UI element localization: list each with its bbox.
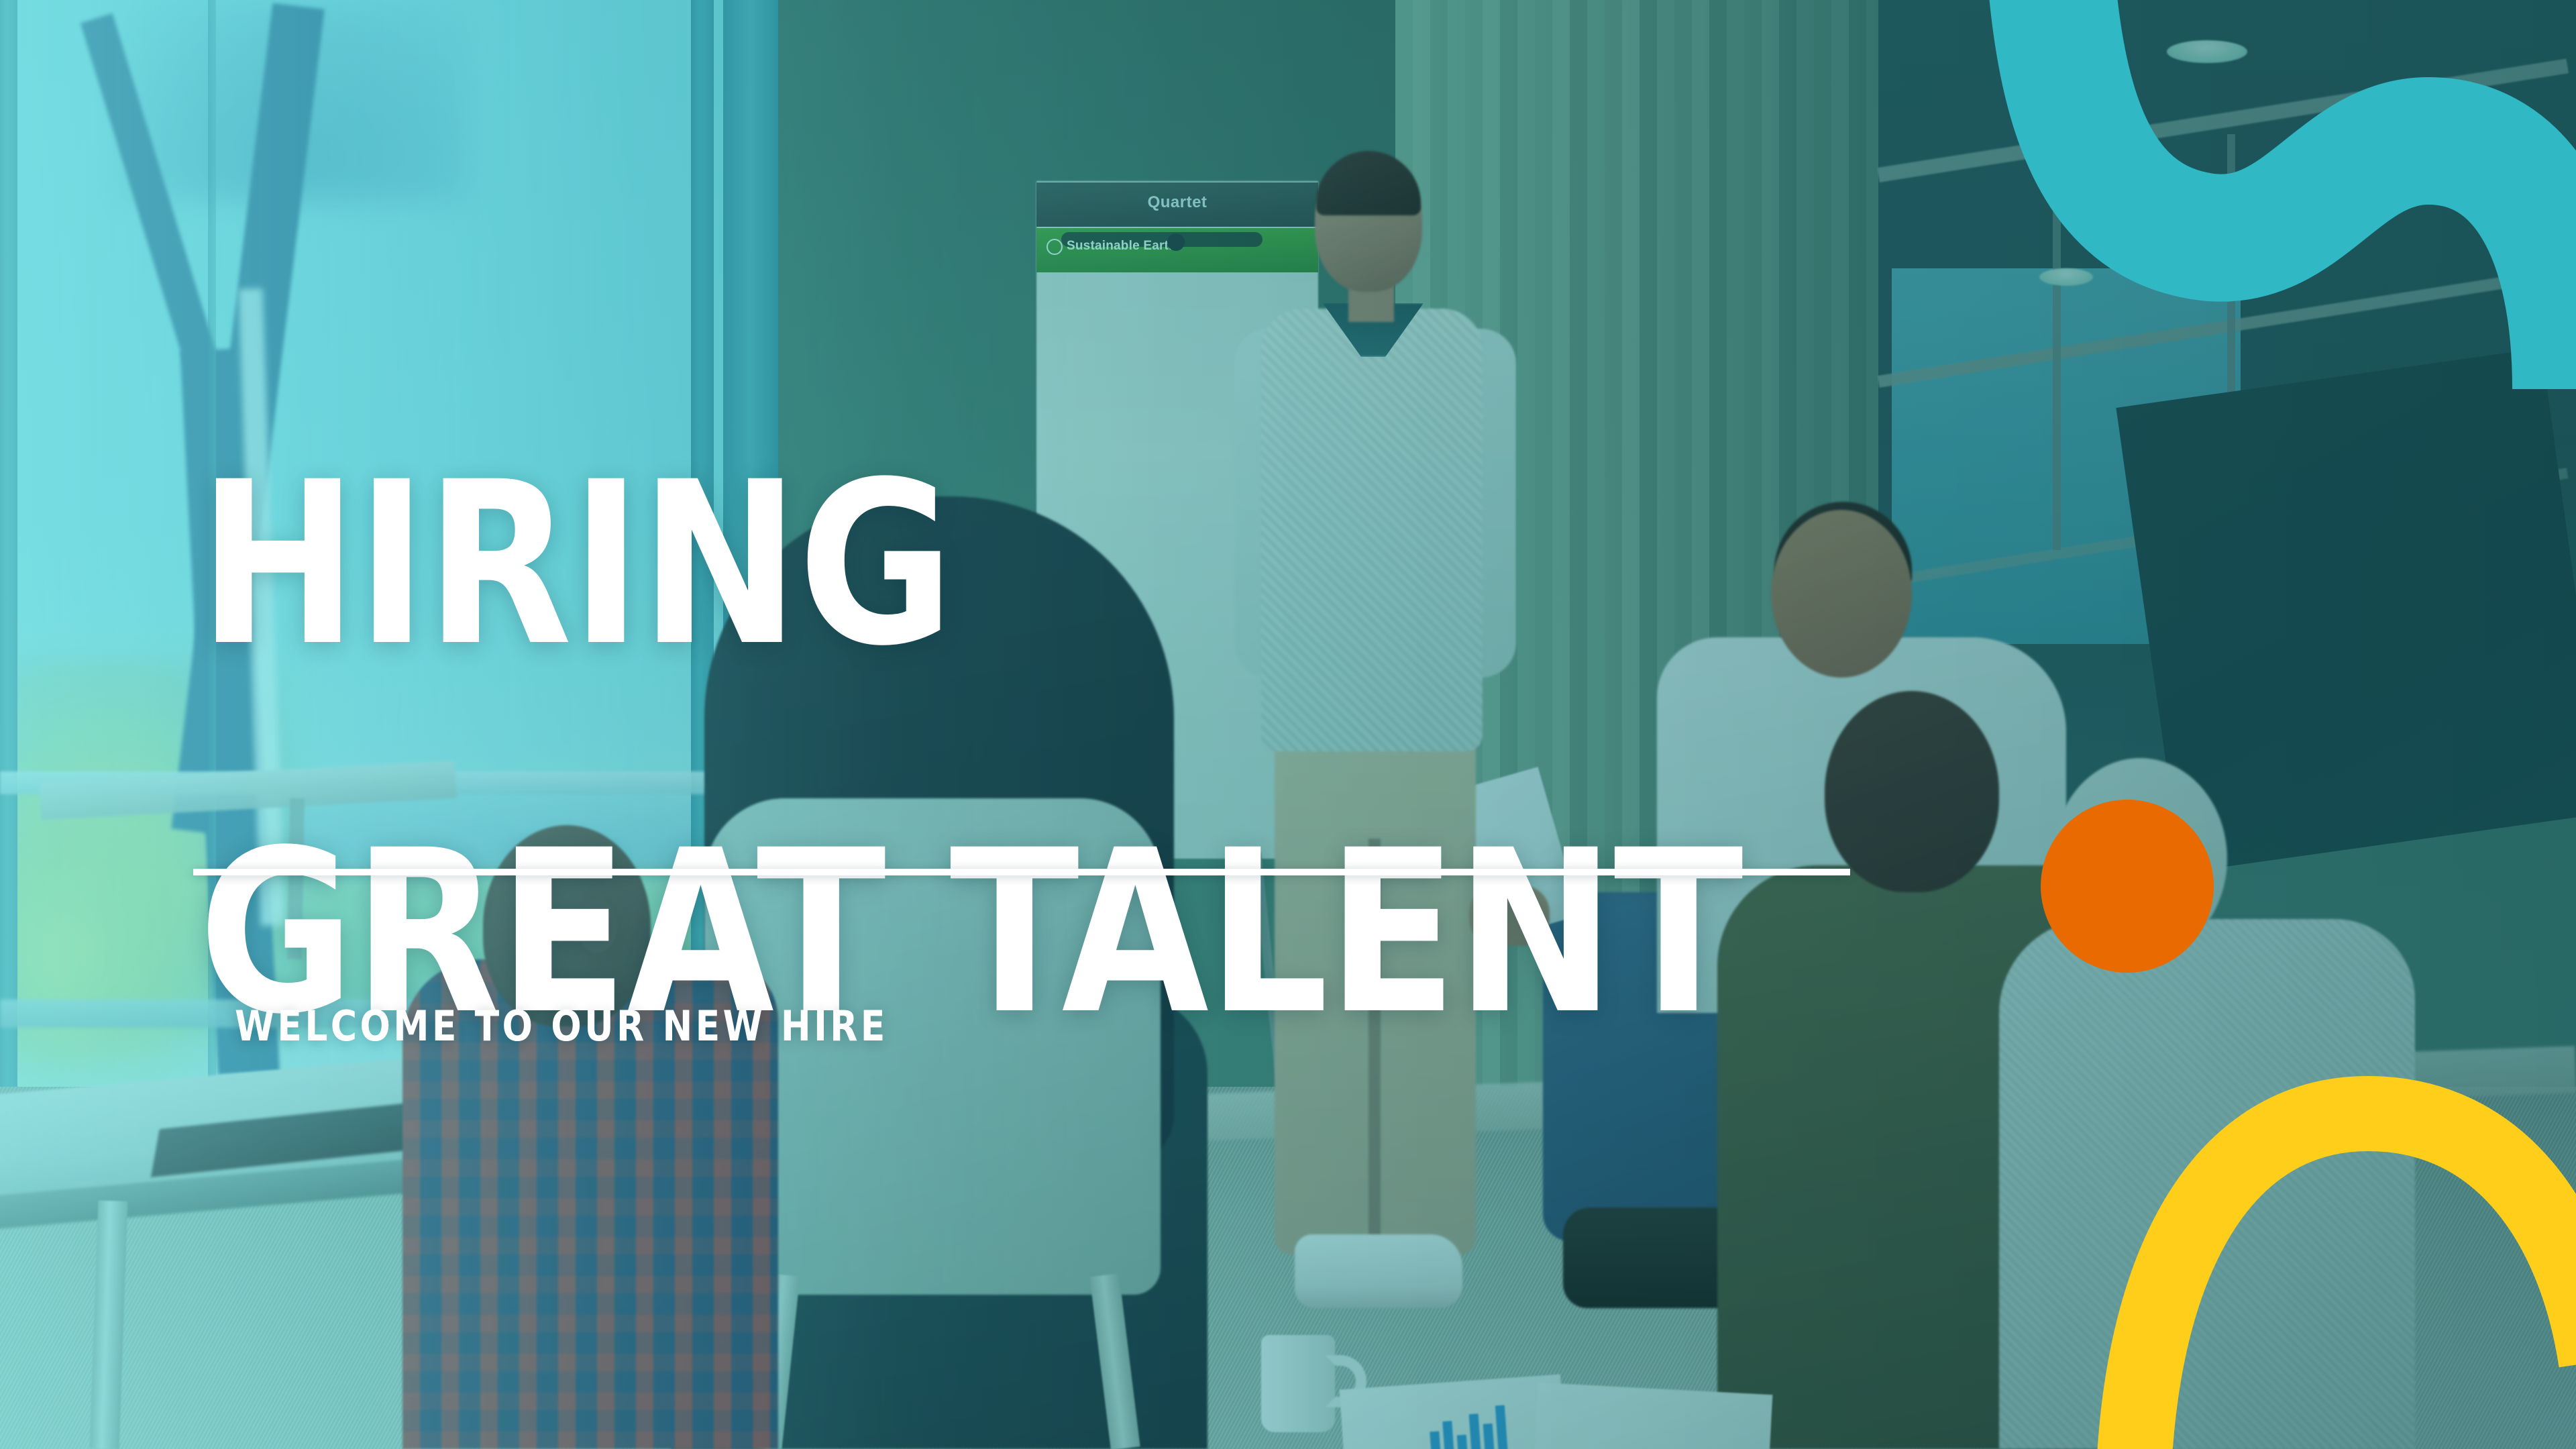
banner-canvas: Quartet Sustainable Earth: [0, 0, 2576, 1449]
divider-rule: [193, 869, 1850, 875]
headline-line-1: HIRING: [199, 473, 1742, 657]
page-title: HIRING GREAT TALENT: [199, 288, 1742, 1210]
subtitle: WELCOME TO OUR NEW HIRE: [235, 1002, 888, 1051]
banner-text-block: HIRING GREAT TALENT WELCOME TO OUR NEW H…: [0, 0, 2576, 1449]
